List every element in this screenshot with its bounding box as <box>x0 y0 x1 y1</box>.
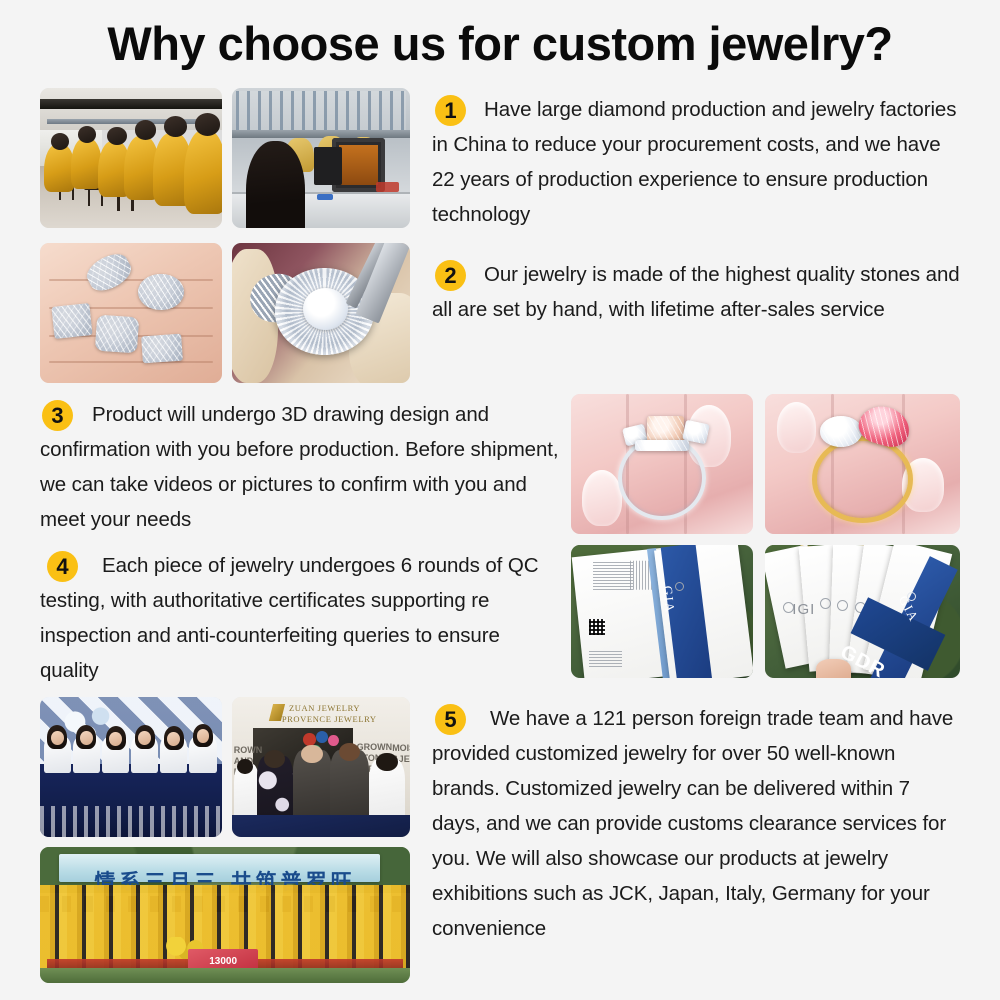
booth-brand-line-2: PROVENCE JEWELRY <box>282 714 367 725</box>
benefit-text-2: Our jewelry is made of the highest quali… <box>432 257 962 327</box>
benefit-text-5: We have a 121 person foreign trade team … <box>432 701 962 946</box>
photo-loose-diamonds-on-palm <box>40 243 222 383</box>
photo-factory-assembly-line <box>40 88 222 228</box>
photo-sales-team-uniform <box>40 697 222 837</box>
benefit-text-1: Have large diamond production and jewelr… <box>432 92 962 232</box>
photo-exhibition-booth-clients: ZUAN JEWELRY PROVENCE JEWELRY ROWN AND E… <box>232 697 410 837</box>
photo-factory-inspection-desk <box>232 88 410 228</box>
group-sign-number: 13000 <box>188 956 258 967</box>
photo-tweezers-halo-ring <box>232 243 410 383</box>
photo-igi-gia-gdr-certificates: IGI GIA GDR <box>765 545 960 678</box>
booth-brand-line-1: ZUAN JEWELRY <box>282 703 367 714</box>
benefit-text-3: Product will undergo 3D drawing design a… <box>40 397 560 537</box>
benefit-text-4: Each piece of jewelry undergoes 6 rounds… <box>40 548 555 688</box>
igi-logo-text: IGI <box>792 601 815 618</box>
photo-company-group-photo: 情系三月三 共筑普罗旺 13000 <box>40 847 410 983</box>
photo-pink-stone-ring-on-hand <box>765 394 960 534</box>
photo-peach-stone-ring-on-hand <box>571 394 753 534</box>
gia-logo-text: GIA <box>659 585 678 614</box>
page-title: Why choose us for custom jewelry? <box>0 16 1000 71</box>
photo-gia-certificate-envelope: GIA <box>571 545 753 678</box>
